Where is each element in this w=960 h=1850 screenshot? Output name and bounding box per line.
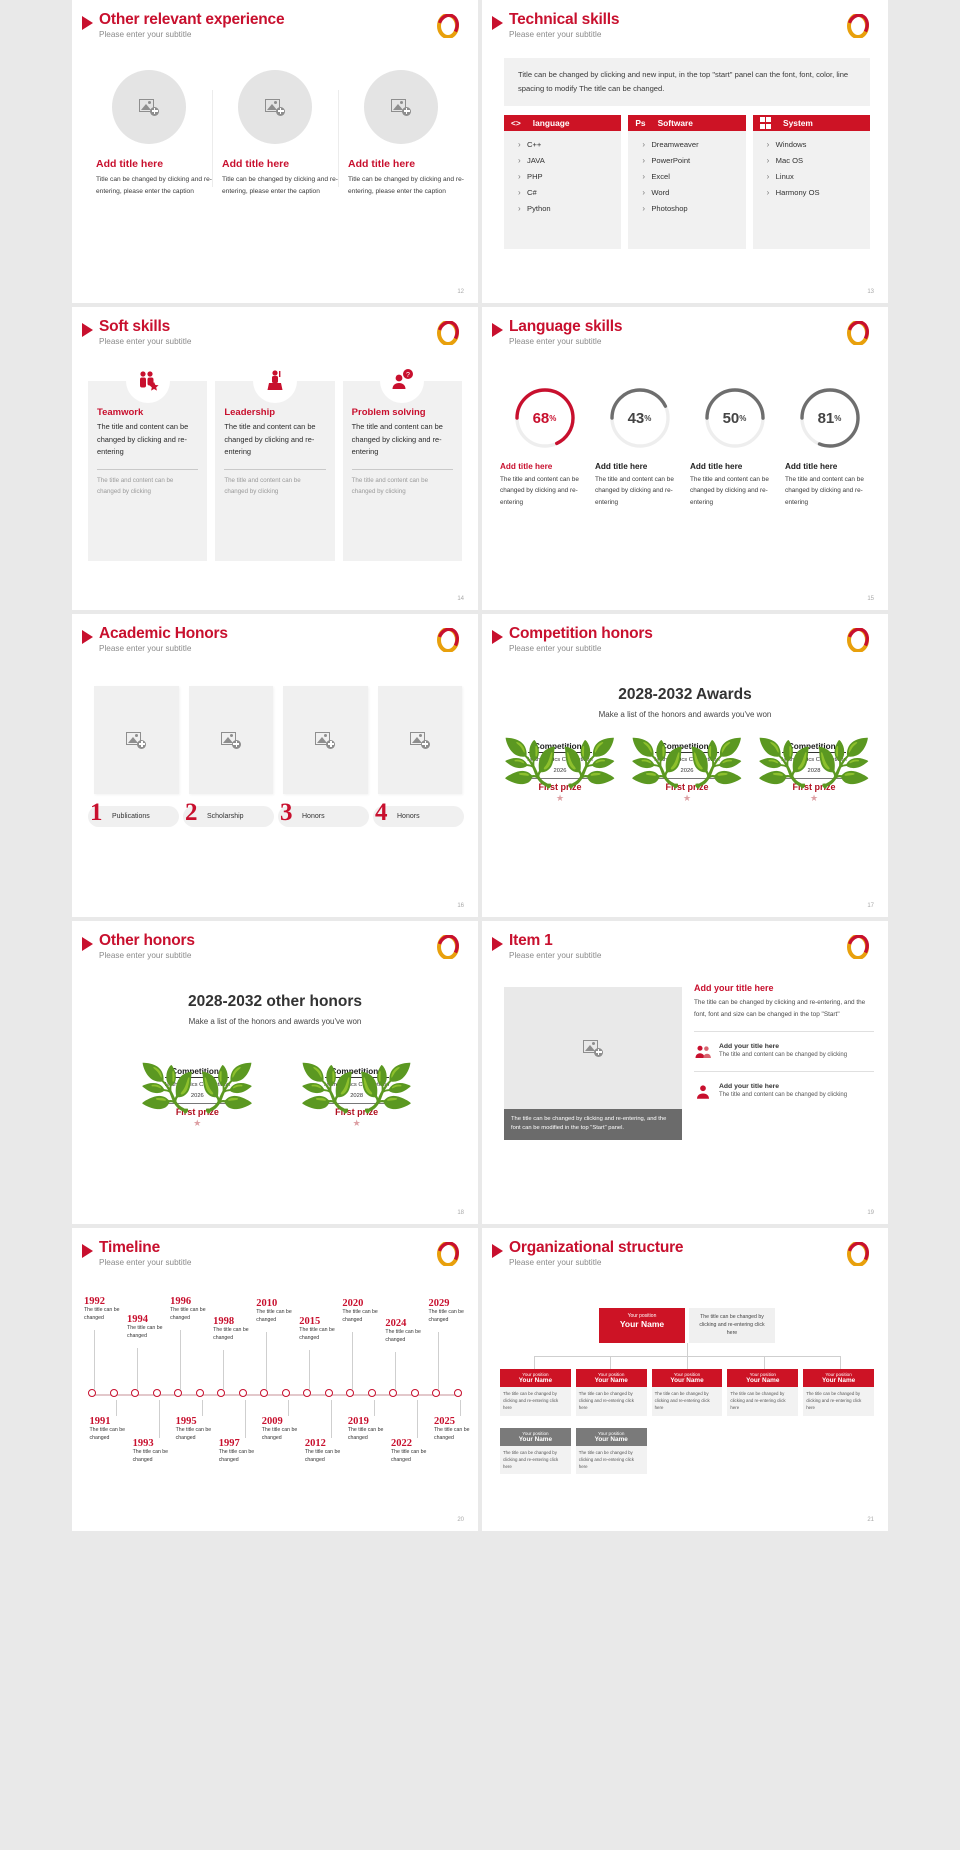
experience-card[interactable]: Add title here Title can be changed by c… [212,70,338,197]
add-image-icon [139,99,159,116]
honor-pill[interactable]: 4Honors [373,806,464,827]
slide-deck: Other relevant experience Please enter y… [0,0,960,1531]
event-text: The title can be changed [213,1327,263,1343]
timeline-dot[interactable] [153,1389,161,1397]
item-body: The title and content can be changed by … [785,474,874,508]
timeline-dot[interactable] [411,1389,419,1397]
image-placeholder[interactable] [378,686,463,794]
node-name: Your Name [502,1377,569,1384]
ring-logo-icon [846,1242,870,1266]
donut-chart: 81% [797,385,863,451]
add-image-icon [391,99,411,116]
description-note: Title can be changed by clicking and new… [504,58,870,106]
event-year: 2025 [434,1416,478,1427]
add-image-icon [410,732,430,749]
node-desc: The title can be changed by clicking and… [576,1387,647,1415]
timeline-dot[interactable] [239,1389,247,1397]
timeline-dot[interactable] [88,1389,96,1397]
slide-competition-honors: Competition honors Please enter your sub… [482,614,888,917]
timeline-tick [137,1348,138,1390]
feature-body: The title and content can be changed by … [719,1051,847,1061]
node-desc: The title can be changed by clicking and… [803,1387,874,1415]
list-item: JAVA [518,156,621,165]
event-year: 2020 [342,1298,392,1309]
event-year: 2009 [262,1416,312,1427]
timeline-axis [90,1394,462,1396]
timeline-dot[interactable] [432,1389,440,1397]
honor-pill[interactable]: 1Publications [88,806,179,827]
event-year: 1991 [90,1416,140,1427]
card-body: Title can be changed by clicking and re-… [86,174,212,197]
pill-label: Honors [302,813,325,820]
event-text: The title can be changed [299,1327,349,1343]
soft-skill-card[interactable]: ? Problem solving The title and content … [343,381,462,561]
donut-unit: % [834,414,841,423]
team-star-icon [126,359,170,403]
card-body: Title can be changed by clicking and re-… [338,174,464,197]
node-desc: The title can be changed by clicking and… [727,1387,798,1415]
event-text: The title can be changed [385,1329,435,1345]
add-image-icon [315,732,335,749]
card-subtext: The title and content can be changed by … [224,476,325,497]
slide-item-1: Item 1 Please enter your subtitle The ti… [482,921,888,1224]
donut-unit: % [549,414,556,423]
list-item: Python [518,204,621,213]
right-title: Add your title here [694,983,874,993]
ring-logo-icon [436,935,460,959]
slide-header: Academic Honors Please enter your subtit… [82,626,228,653]
triangle-bullet-icon [492,323,503,337]
card-body: The title and content can be changed by … [97,421,198,459]
ring-logo-icon [436,14,460,38]
list-item: Word [642,188,745,197]
ring-logo-icon [436,628,460,652]
column-title: language [533,118,570,128]
skill-column-language: <>language C++ JAVA PHP C# Python [504,115,621,249]
donut-unit: % [739,414,746,423]
image-placeholder[interactable] [504,987,682,1109]
timeline-tick [202,1400,203,1416]
timeline-track: 1992The title can be changed1994The titl… [86,1286,466,1486]
list-item: C++ [518,140,621,149]
list-item: Harmony OS [767,188,870,197]
pill-label: Scholarship [207,813,244,820]
slide-header: Technical skills Please enter your subti… [492,12,619,39]
timeline-tick [116,1400,117,1416]
page-title: Language skills [509,319,622,335]
card-subtext: The title and content can be changed by … [97,476,198,497]
timeline-tick [159,1400,160,1438]
timeline-tick [94,1330,95,1390]
column-title: System [783,118,813,128]
slide-soft-skills: Soft skills Please enter your subtitle T… [72,307,478,610]
org-node[interactable]: Your positionYour NameThe title can be c… [803,1369,874,1415]
timeline-tick [288,1400,289,1416]
section-subheading: Make a list of the honors and awards you… [482,710,888,719]
event-year: 1996 [170,1296,220,1307]
laurel-left-icon: 🌿 [629,740,686,786]
skill-column-system: System Windows Mac OS Linux Harmony OS [753,115,870,249]
donut-chart-group: 68% Add title here The title and content… [500,385,874,508]
image-placeholder[interactable] [238,70,312,144]
page-subtitle: Please enter your subtitle [509,337,622,346]
timeline-tick [309,1350,310,1390]
page-subtitle: Please enter your subtitle [509,30,619,39]
timeline-dot[interactable] [217,1389,225,1397]
card-title: Add title here [86,158,163,170]
triangle-bullet-icon [82,1244,93,1258]
timeline-tick [460,1400,461,1416]
timeline-tick [438,1332,439,1390]
donut-value: 81 [818,410,835,427]
slide-header: Language skills Please enter your subtit… [492,319,622,346]
page-subtitle: Please enter your subtitle [99,30,284,39]
slide-timeline: Timeline Please enter your subtitle 1992… [72,1228,478,1531]
language-skill-item[interactable]: 81% Add title here The title and content… [785,385,874,508]
section-heading: 2028-2032 Awards [482,686,888,704]
donut-value: 68 [533,410,550,427]
card-title: Teamwork [97,407,198,418]
page-title: Academic Honors [99,626,228,642]
root-note: The title can be changed by clicking and… [689,1308,775,1343]
timeline-dot[interactable] [196,1389,204,1397]
timeline-dot[interactable] [454,1389,462,1397]
image-placeholder[interactable] [283,686,368,794]
soft-skill-card[interactable]: Teamwork The title and content can be ch… [88,381,207,561]
ring-logo-icon [846,321,870,345]
slide-language-skills: Language skills Please enter your subtit… [482,307,888,610]
page-title: Organizational structure [509,1240,683,1256]
right-body: The title can be changed by clicking and… [694,997,874,1021]
list-item: Dreamweaver [642,140,745,149]
event-text: The title can be changed [305,1449,355,1465]
root-name: Your Name [603,1319,681,1329]
item-title: Add title here [500,462,589,471]
org-connector [500,1343,874,1369]
code-brackets-icon: <> [511,118,521,128]
page-title: Other relevant experience [99,12,284,28]
triangle-bullet-icon [82,937,93,951]
divider [97,469,198,470]
photoshop-icon: Ps [635,118,645,128]
node-desc: The title can be changed by clicking and… [500,1387,571,1415]
feature-item[interactable]: Add your title here The title and conten… [694,1043,874,1061]
event-year: 2010 [256,1298,306,1309]
person-question-icon: ? [380,359,424,403]
image-placeholder[interactable] [189,686,274,794]
page-number: 19 [867,1210,874,1216]
node-name: Your Name [578,1436,645,1443]
slide-header: Organizational structure Please enter yo… [492,1240,683,1267]
timeline-tick [374,1400,375,1416]
laurel-right-icon: 🌿 [561,740,618,786]
timeline-tick [266,1332,267,1390]
honor-pill[interactable]: 2Scholarship [183,806,274,827]
card-title: Problem solving [352,407,453,418]
column-header: PsSoftware [628,115,745,131]
soft-skill-card[interactable]: Leadership The title and content can be … [215,381,334,561]
laurel-left-icon: 🌿 [299,1065,356,1111]
timeline-event-top[interactable]: 2029The title can be changed [428,1298,478,1325]
feature-item[interactable]: Add your title here The title and conten… [694,1083,874,1101]
ring-logo-icon [436,1242,460,1266]
triangle-bullet-icon [492,630,503,644]
page-subtitle: Please enter your subtitle [509,951,601,960]
slide-academic-honors: Academic Honors Please enter your subtit… [72,614,478,917]
item-title: Add title here [595,462,684,471]
timeline-dot[interactable] [174,1389,182,1397]
pill-number: 3 [280,799,293,827]
timeline-tick [331,1400,332,1438]
list-item: C# [518,188,621,197]
divider [352,469,453,470]
star-icon: ★ [141,1118,253,1129]
page-title: Item 1 [509,933,601,949]
item-body: The title and content can be changed by … [595,474,684,508]
laurel-left-icon: 🌿 [139,1065,196,1111]
list-item: PowerPoint [642,156,745,165]
org-node[interactable]: Your positionYour NameThe title can be c… [500,1369,571,1415]
slide-header: Other honors Please enter your subtitle [82,933,195,960]
page-title: Timeline [99,1240,191,1256]
timeline-dot[interactable] [389,1389,397,1397]
item-body: The title and content can be changed by … [690,474,779,508]
skill-column-software: PsSoftware Dreamweaver PowerPoint Excel … [628,115,745,249]
laurel-left-icon: 🌿 [502,740,559,786]
page-number: 15 [867,596,874,602]
language-skill-item[interactable]: 68% Add title here The title and content… [500,385,589,508]
timeline-dot[interactable] [325,1389,333,1397]
event-text: The title can be changed [391,1449,441,1465]
node-name: Your Name [578,1377,645,1384]
timeline-dot[interactable] [303,1389,311,1397]
ring-logo-icon [846,935,870,959]
slide-organizational-structure: Organizational structure Please enter yo… [482,1228,888,1531]
node-name: Your Name [805,1377,872,1384]
timeline-tick [245,1400,246,1438]
timeline-dot[interactable] [110,1389,118,1397]
slide-header: Other relevant experience Please enter y… [82,12,284,39]
divider [694,1031,874,1032]
card-title: Add title here [338,158,415,170]
feature-body: The title and content can be changed by … [719,1091,847,1101]
page-subtitle: Please enter your subtitle [99,951,195,960]
two-people-icon [694,1043,712,1061]
pill-number: 2 [185,799,198,827]
org-node[interactable]: Your positionYour NameThe title can be c… [652,1369,723,1415]
card-body: Title can be changed by clicking and re-… [212,174,338,197]
ring-logo-icon [846,628,870,652]
list-item: Excel [642,172,745,181]
triangle-bullet-icon [492,16,503,30]
donut-value: 43 [628,410,645,427]
page-subtitle: Please enter your subtitle [99,1258,191,1267]
org-node[interactable]: Your positionYour NameThe title can be c… [576,1369,647,1415]
page-title: Competition honors [509,626,653,642]
event-year: 1992 [84,1296,134,1307]
list-item: Windows [767,140,870,149]
page-number: 12 [457,289,464,295]
laurel-right-icon: 🌿 [198,1065,255,1111]
laurel-right-icon: 🌿 [688,740,745,786]
laurel-right-icon: 🌿 [357,1065,414,1111]
card-subtext: The title and content can be changed by … [352,476,453,497]
add-image-icon [221,732,241,749]
pill-number: 1 [90,799,103,827]
star-icon: ★ [631,793,743,804]
node-desc: The title can be changed by clicking and… [576,1446,647,1474]
timeline-dot[interactable] [368,1389,376,1397]
page-number: 13 [867,289,874,295]
card-body: The title and content can be changed by … [352,421,453,459]
triangle-bullet-icon [492,1244,503,1258]
triangle-bullet-icon [82,630,93,644]
list-item: Linux [767,172,870,181]
award-badge[interactable]: 🌿🌿 Competitions Mathematics Competition … [504,736,616,804]
page-subtitle: Please enter your subtitle [99,337,191,346]
award-badge[interactable]: 🌿🌿 Competitions Mathematics Competition … [631,736,743,804]
slide-technical-skills: Technical skills Please enter your subti… [482,0,888,303]
page-number: 17 [867,903,874,909]
award-badge[interactable]: 🌿🌿 Competitions Mathematics Competition … [141,1061,253,1129]
item-body: The title and content can be changed by … [500,474,589,508]
person-icon [694,1083,712,1101]
node-name: Your Name [502,1436,569,1443]
award-badge[interactable]: 🌿🌿 Competitions Mathematics Competition … [758,736,870,804]
timeline-dot[interactable] [260,1389,268,1397]
slide-other-relevant-experience: Other relevant experience Please enter y… [72,0,478,303]
timeline-tick [417,1400,418,1438]
divider [224,469,325,470]
feature-title: Add your title here [719,1043,847,1050]
star-icon: ★ [504,793,616,804]
star-icon: ★ [301,1118,413,1129]
page-title: Other honors [99,933,195,949]
timeline-tick [223,1350,224,1390]
triangle-bullet-icon [492,937,503,951]
image-placeholder[interactable] [94,686,179,794]
page-number: 18 [457,1210,464,1216]
donut-chart: 50% [702,385,768,451]
column-header: <>language [504,115,621,131]
donut-unit: % [644,414,651,423]
donut-chart: 68% [512,385,578,451]
page-subtitle: Please enter your subtitle [99,644,228,653]
laurel-left-icon: 🌿 [756,740,813,786]
page-subtitle: Please enter your subtitle [509,644,653,653]
image-placeholder[interactable] [364,70,438,144]
section-heading: 2028-2032 other honors [72,993,478,1011]
windows-icon [760,117,771,128]
timeline-tick [352,1332,353,1390]
item-title: Add title here [690,462,779,471]
timeline-dot[interactable] [131,1389,139,1397]
node-desc: The title can be changed by clicking and… [500,1446,571,1474]
page-number: 21 [867,1517,874,1523]
column-header: System [753,115,870,131]
add-image-icon [583,1040,603,1057]
page-number: 14 [457,596,464,602]
list-item: Photoshop [642,204,745,213]
image-caption: The title can be changed by clicking and… [504,1109,682,1140]
node-name: Your Name [654,1377,721,1384]
org-node[interactable]: Your positionYour NameThe title can be c… [727,1369,798,1415]
org-node[interactable]: Your positionYour NameThe title can be c… [500,1428,571,1474]
node-desc: The title can be changed by clicking and… [652,1387,723,1415]
slide-other-honors: Other honors Please enter your subtitle … [72,921,478,1224]
pill-label: Honors [397,813,420,820]
image-placeholder[interactable] [112,70,186,144]
add-image-icon [265,99,285,116]
triangle-bullet-icon [82,323,93,337]
podium-speaker-icon [253,359,297,403]
page-number: 16 [457,903,464,909]
section-subheading: Make a list of the honors and awards you… [72,1017,478,1026]
divider [694,1071,874,1072]
event-text: The title can be changed [434,1427,478,1443]
event-text: The title can be changed [219,1449,269,1465]
language-skill-item[interactable]: 50% Add title here The title and content… [690,385,779,508]
card-title: Add title here [212,158,289,170]
slide-header: Timeline Please enter your subtitle [82,1240,191,1267]
language-skill-item[interactable]: 43% Add title here The title and content… [595,385,684,508]
page-title: Technical skills [509,12,619,28]
timeline-tick [180,1330,181,1390]
timeline-dot[interactable] [282,1389,290,1397]
award-badge[interactable]: 🌿🌿 Competitions Mathematics Competition … [301,1061,413,1129]
donut-value: 50 [723,410,740,427]
event-year: 1995 [176,1416,226,1427]
pill-number: 4 [375,799,388,827]
add-image-icon [126,732,146,749]
item-title: Add title here [785,462,874,471]
ring-logo-icon [436,321,460,345]
event-year: 2019 [348,1416,398,1427]
pill-label: Publications [112,813,150,820]
slide-header: Competition honors Please enter your sub… [492,626,653,653]
donut-chart: 43% [607,385,673,451]
svg-text:?: ? [406,372,410,379]
list-item: PHP [518,172,621,181]
timeline-tick [395,1352,396,1390]
event-text: The title can be changed [428,1309,478,1325]
slide-header: Soft skills Please enter your subtitle [82,319,191,346]
event-text: The title can be changed [127,1325,177,1341]
event-year: 2029 [428,1298,478,1309]
list-item: Mac OS [767,156,870,165]
timeline-dot[interactable] [346,1389,354,1397]
page-title: Soft skills [99,319,191,335]
experience-card[interactable]: Add title here Title can be changed by c… [86,70,212,197]
laurel-right-icon: 🌿 [815,740,872,786]
feature-title: Add your title here [719,1083,847,1090]
ring-logo-icon [846,14,870,38]
star-icon: ★ [758,793,870,804]
page-subtitle: Please enter your subtitle [509,1258,683,1267]
slide-header: Item 1 Please enter your subtitle [492,933,601,960]
org-node[interactable]: Your positionYour NameThe title can be c… [576,1428,647,1474]
event-text: The title can be changed [133,1449,183,1465]
page-number: 20 [457,1517,464,1523]
experience-card[interactable]: Add title here Title can be changed by c… [338,70,464,197]
card-title: Leadership [224,407,325,418]
triangle-bullet-icon [82,16,93,30]
honor-pill[interactable]: 3Honors [278,806,369,827]
column-title: Software [658,118,693,128]
timeline-event-bottom[interactable]: 2025The title can be changed [434,1416,478,1443]
org-root-node[interactable]: Your position Your Name [599,1308,685,1343]
node-name: Your Name [729,1377,796,1384]
